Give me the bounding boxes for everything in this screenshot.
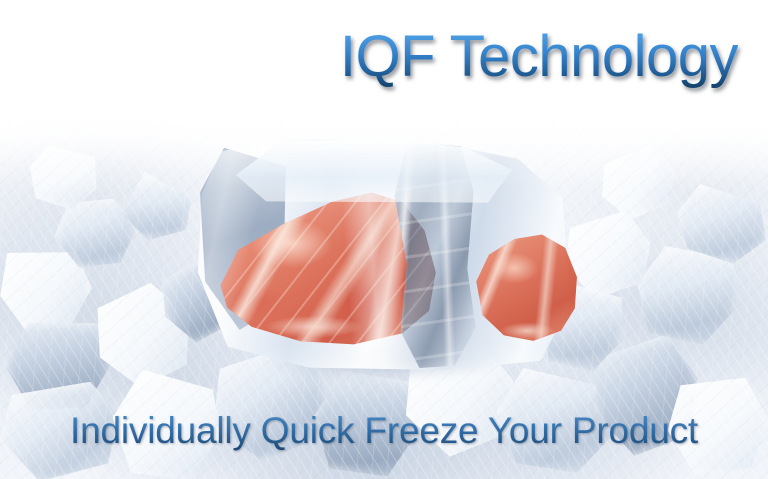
page-title: IQF Technology [0,25,738,90]
ice-shard [49,188,143,277]
ice-shard [592,141,685,226]
frozen-meat-block [186,138,582,376]
ice-shard [625,236,750,356]
ice-shard [20,139,105,218]
ice-shard [2,316,114,417]
iqf-technology-banner: IQF Technology Individually Quick Freeze… [0,0,768,479]
ice-shard [0,242,98,340]
tagline: Individually Quick Freeze Your Product [0,411,768,452]
ice-shard [669,178,768,272]
